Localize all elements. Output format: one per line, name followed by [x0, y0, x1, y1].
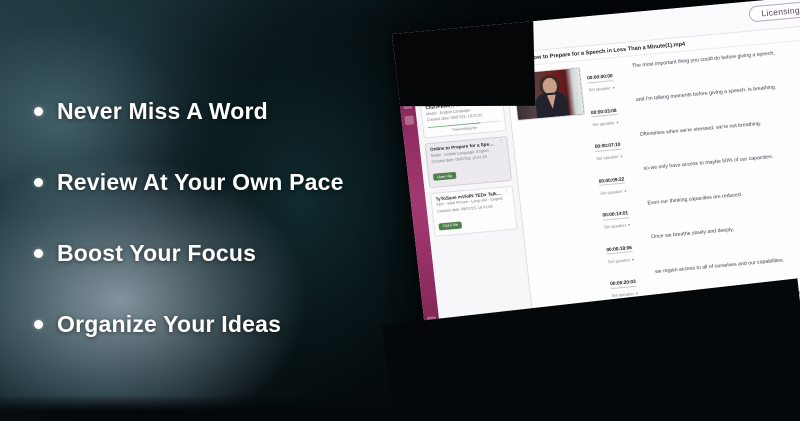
timecode[interactable]: 00:00:18:06: [606, 246, 632, 255]
speaker-label: Set speaker: [596, 154, 619, 161]
timecode[interactable]: 00:00:00:00: [587, 74, 613, 83]
speaker-label: Set speaker: [607, 257, 630, 264]
main-pane: ‹ File: How to Prepare for a Speech in L…: [504, 25, 800, 352]
bullet-label: Review At Your Own Pace: [57, 169, 344, 196]
chevron-down-icon: ▾: [624, 188, 627, 193]
transcript-area: 00:00:00:00 Set speaker▾ The most import…: [505, 39, 800, 336]
settings-icon[interactable]: [428, 331, 438, 341]
timecode[interactable]: 00:00:03:08: [591, 108, 617, 117]
bullet-dot-icon: [34, 320, 43, 329]
benefit-bullet-list: Never Miss A Word Review At Your Own Pac…: [34, 98, 394, 382]
bullet-dot-icon: [34, 107, 43, 116]
current-time: 00:00:00: [556, 339, 574, 346]
file-card[interactable]: ⋮ Online to Prepare for a Speech in Less…: [424, 136, 512, 188]
trash-icon[interactable]: [404, 115, 414, 125]
power-icon[interactable]: [430, 346, 440, 356]
chevron-down-icon: ▾: [612, 85, 615, 90]
timecode[interactable]: 00:00:24:08: [614, 314, 640, 323]
transcript-text[interactable]: so we only have access to maybe 50% of o…: [643, 153, 773, 171]
transcript-text[interactable]: we regain access to all of ourselves and…: [655, 256, 785, 274]
speaker-label: Set speaker: [588, 85, 611, 92]
bullet-dot-icon: [34, 178, 43, 187]
chevron-down-icon: ▾: [616, 119, 619, 124]
open-file-button[interactable]: Open file: [438, 221, 462, 230]
chevron-down-icon: ▾: [636, 291, 639, 296]
transcript-row-left: 00:00:18:06 Set speaker▾: [605, 234, 648, 263]
bullet-label: Never Miss A Word: [57, 98, 268, 125]
more-options-icon[interactable]: ⋮: [499, 140, 504, 144]
timecode[interactable]: 00:00:14:01: [602, 211, 628, 220]
speaker-dropdown[interactable]: Set speaker▾: [592, 118, 632, 127]
bullet-dot-icon: [34, 249, 43, 258]
play-icon[interactable]: ▶: [543, 339, 552, 348]
transcript-text[interactable]: If you have to speak to an audience larg…: [659, 289, 800, 309]
scrubber-handle[interactable]: [614, 335, 618, 339]
apps-icon[interactable]: [427, 316, 437, 326]
transcript-list[interactable]: 00:00:00:00 Set speaker▾ The most import…: [586, 45, 800, 328]
speaker-label: Set speaker: [592, 120, 615, 127]
bullet-label: Boost Your Focus: [57, 240, 256, 267]
total-time: 00:01:03:01: [781, 318, 800, 325]
open-file-button[interactable]: Open file: [433, 172, 457, 181]
transcription-status: Transcribing file: [428, 123, 501, 134]
speaker-label: Set speaker: [604, 223, 627, 230]
transcript-text[interactable]: and I'm talking moments before giving a …: [636, 84, 777, 103]
transcript-text[interactable]: Even our thinking capacities are reduced…: [647, 191, 743, 206]
speaker-dropdown[interactable]: Set speaker▾: [600, 187, 640, 196]
speaker-label: Set speaker: [611, 291, 634, 298]
speaker-label: Set speaker: [600, 188, 623, 195]
licensing-button[interactable]: Licensing: [749, 1, 800, 23]
speaker-dropdown[interactable]: Set speaker▾: [607, 255, 647, 264]
list-item: Boost Your Focus: [34, 240, 394, 267]
chevron-down-icon: ▾: [620, 154, 623, 159]
app-window: Licensing eSCRIPTMELite: [392, 0, 800, 362]
transcript-row-left: 00:00:03:08 Set speaker▾: [590, 97, 633, 126]
transcript-row-left: 00:00:20:03 Set speaker▾: [609, 269, 652, 298]
list-item: Never Miss A Word: [34, 98, 394, 125]
list-item: Review At Your Own Pace: [34, 169, 394, 196]
timecode[interactable]: 00:00:20:03: [610, 280, 636, 289]
timecode[interactable]: 00:00:09:22: [598, 177, 624, 186]
transcript-text[interactable]: Oftentimes when we're stressed, we're no…: [639, 120, 761, 138]
transcript-row-left: 00:00:07:10 Set speaker▾: [594, 131, 637, 160]
scrubber-progress: [578, 337, 614, 341]
transcript-text[interactable]: Once we breathe slowly and deeply,: [651, 226, 734, 240]
timecode[interactable]: 00:00:07:10: [595, 143, 621, 152]
laptop-screen: Licensing eSCRIPTMELite: [392, 0, 800, 362]
transcript-row-left: 00:00:00:00 Set speaker▾: [586, 63, 629, 92]
transcript-row-left: 00:00:14:01 Set speaker▾: [601, 200, 644, 229]
chevron-down-icon: ▾: [632, 256, 635, 261]
more-options-icon[interactable]: ⋮: [504, 190, 509, 194]
list-item: Organize Your Ideas: [34, 311, 394, 338]
file-card[interactable]: ⋮ TyToSave mViolN TEDx Talk for the cl..…: [430, 185, 518, 237]
speaker-dropdown[interactable]: Set speaker▾: [611, 290, 651, 299]
transcript-row-left: 00:00:09:22 Set speaker▾: [597, 166, 640, 195]
speaker-dropdown[interactable]: Set speaker▾: [596, 152, 636, 161]
speaker-dropdown[interactable]: Set speaker▾: [588, 84, 628, 93]
speaker-dropdown[interactable]: Set speaker▾: [604, 221, 644, 230]
chevron-down-icon: ▾: [628, 222, 631, 227]
bullet-label: Organize Your Ideas: [57, 311, 281, 338]
